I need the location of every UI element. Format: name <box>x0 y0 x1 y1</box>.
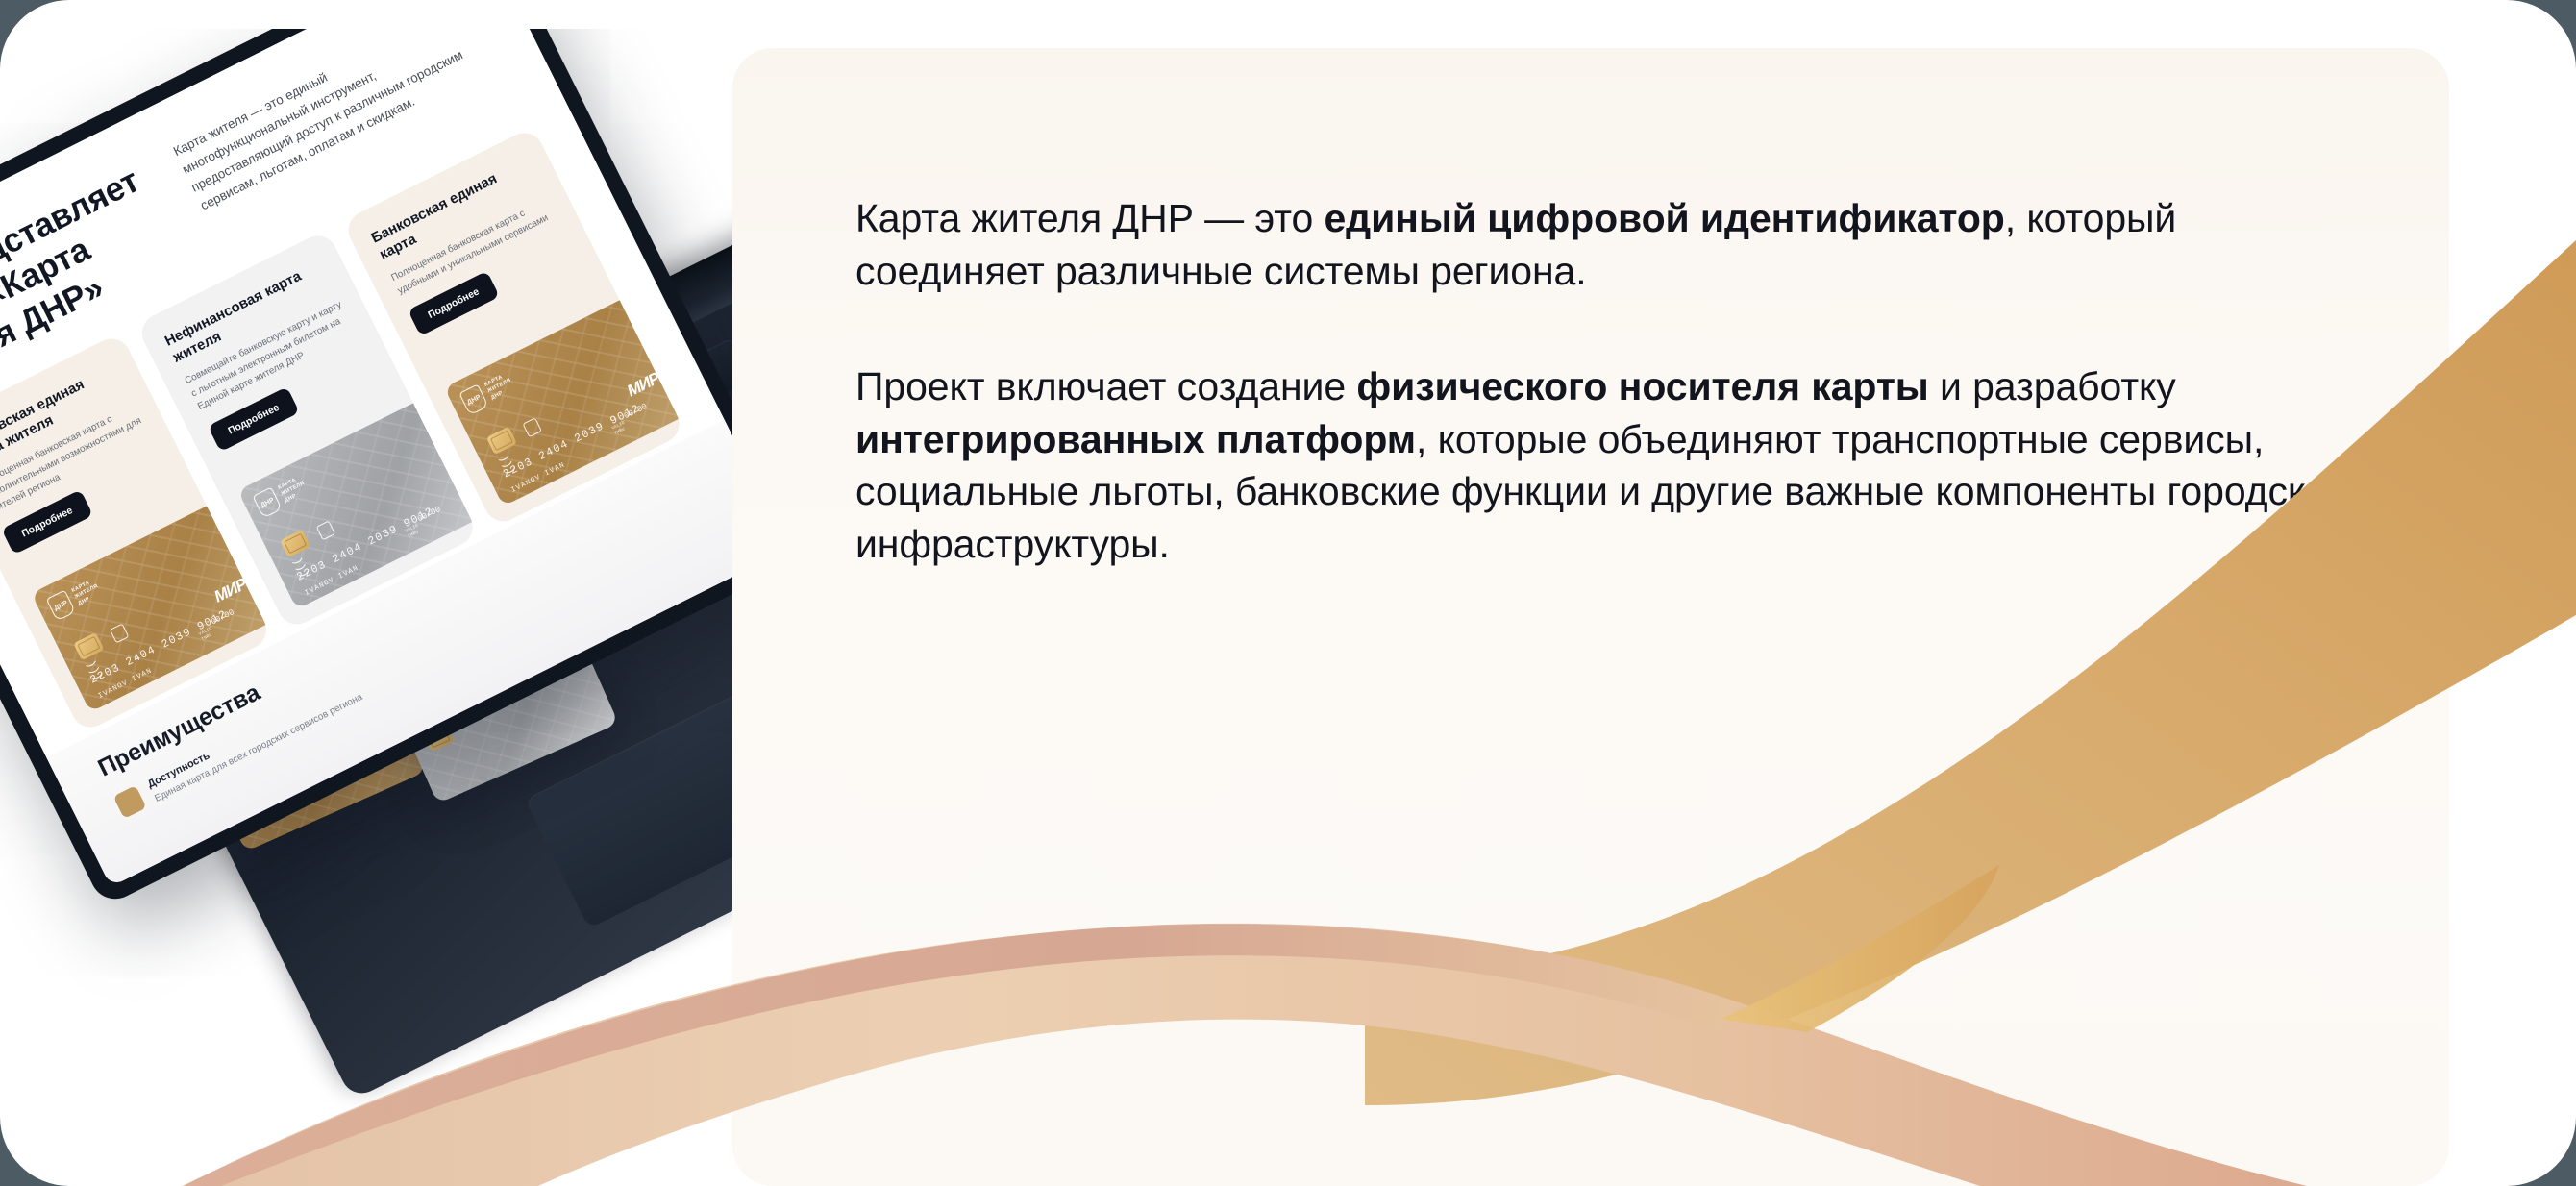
emphasis-run: физического носителя карты <box>1356 364 1928 408</box>
emphasis-run: единый цифровой идентификатор <box>1324 196 2004 240</box>
page-root: ДНР Что представляет собой «Карта жителя… <box>0 0 2576 1186</box>
paragraph-1: Карта жителя ДНР — это единый цифровой и… <box>855 192 2355 297</box>
paragraph-2: Проект включает создание физического нос… <box>855 360 2355 570</box>
text-run: Карта жителя ДНР — это <box>855 196 1324 240</box>
description-text-block: Карта жителя ДНР — это единый цифровой и… <box>855 192 2355 570</box>
text-run: Проект включает создание <box>855 364 1356 408</box>
content-panel: Карта жителя ДНР — это единый цифровой и… <box>732 48 2449 1186</box>
emphasis-run: интегрированных платформ <box>855 417 1416 461</box>
advantage-text: Единая карта для всех городских сервисов… <box>152 690 365 806</box>
text-run: и разработку <box>1929 364 2176 408</box>
advantage-icon <box>113 785 147 819</box>
